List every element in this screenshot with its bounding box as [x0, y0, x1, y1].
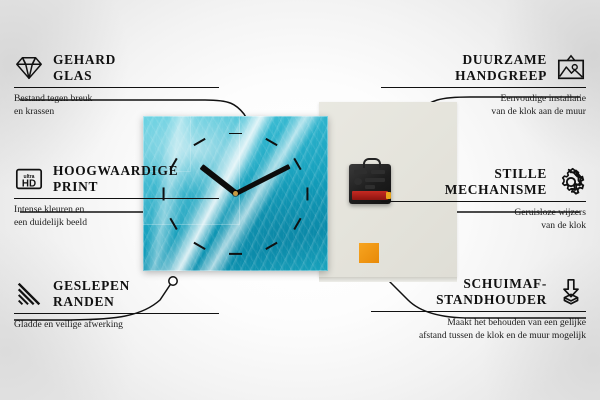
feature-title-line1: HOOGWAARDIGE [53, 163, 178, 179]
feature-title-line2: STANDHOUDER [436, 292, 547, 308]
feature-desc-line2: en krassen [14, 106, 219, 119]
hour-mark [229, 253, 242, 255]
feature-title-line1: GEHARD [53, 52, 116, 68]
hour-mark [229, 133, 242, 135]
feature-title-line2: HANDGREEP [455, 68, 547, 84]
feature-description: Gladde en veilige afwerking [14, 319, 219, 332]
feature-description: Intense kleuren en een duidelijk beeld [14, 204, 219, 229]
ultra-hd-icon: ultra HD [14, 164, 44, 194]
feature-title: GESLEPEN RANDEN [53, 278, 130, 309]
feature-schuimaf-standhouder: SCHUIMAF- STANDHOUDER Maakt het behouden… [371, 276, 586, 342]
feature-desc-line1: Gladde en veilige afwerking [14, 319, 219, 332]
feature-divider [381, 201, 586, 202]
feature-hoogwaardige-print: ultra HD HOOGWAARDIGE PRINT Intense kleu… [14, 163, 219, 229]
feature-header: DUURZAME HANDGREEP [381, 52, 586, 83]
feature-description: Maakt het behouden van een gelijke afsta… [371, 317, 586, 342]
feature-divider [14, 198, 219, 199]
feature-title-line1: SCHUIMAF- [436, 276, 547, 292]
feature-title-line1: STILLE [445, 166, 547, 182]
picture-frame-icon [556, 53, 586, 83]
ultra-hd-icon-big-text: HD [22, 178, 36, 189]
feature-description: Bestand tegen breuk en krassen [14, 93, 219, 118]
feature-header: GESLEPEN RANDEN [14, 278, 219, 309]
feature-title: DUURZAME HANDGREEP [455, 52, 547, 83]
feature-gehard-glas: GEHARD GLAS Bestand tegen breuk en krass… [14, 52, 219, 118]
feature-header: GEHARD GLAS [14, 52, 219, 83]
feature-desc-line1: Bestand tegen breuk [14, 93, 219, 106]
clock-center-hub [233, 191, 238, 196]
feature-duurzame-handgreep: DUURZAME HANDGREEP Eenvoudige installati… [381, 52, 586, 118]
beveled-edges-icon [14, 279, 44, 309]
feature-header: ultra HD HOOGWAARDIGE PRINT [14, 163, 219, 194]
hour-mark [307, 187, 309, 200]
feature-desc-line2: afstand tussen de klok en de muur mogeli… [371, 330, 586, 343]
hour-mark [294, 157, 302, 169]
feature-title-line1: DUURZAME [455, 52, 547, 68]
hour-mark [193, 241, 205, 249]
feature-desc-line1: Geruisloze wijzers [381, 207, 586, 220]
foam-spacer [359, 243, 379, 263]
feature-description: Geruisloze wijzers van de klok [381, 207, 586, 232]
feature-title: STILLE MECHANISME [445, 166, 547, 197]
feature-header: STILLE MECHANISME [381, 166, 586, 197]
product-infographic: GEHARD GLAS Bestand tegen breuk en krass… [0, 0, 600, 400]
feature-title-line2: GLAS [53, 68, 116, 84]
minute-hand [234, 164, 290, 196]
feature-geslepen-randen: GESLEPEN RANDEN Gladde en veilige afwerk… [14, 278, 219, 332]
hanging-lug [363, 158, 381, 168]
feature-title: GEHARD GLAS [53, 52, 116, 83]
download-spacer-icon [556, 277, 586, 307]
feature-divider [371, 311, 586, 312]
feature-desc-line1: Intense kleuren en [14, 204, 219, 217]
hour-mark [294, 217, 302, 229]
feature-title: HOOGWAARDIGE PRINT [53, 163, 178, 194]
feature-title: SCHUIMAF- STANDHOUDER [436, 276, 547, 307]
movement-slot-1 [354, 170, 367, 174]
feature-desc-line2: een duidelijk beeld [14, 217, 219, 230]
movement-slot-5 [365, 185, 375, 189]
feature-description: Eenvoudige installatie van de klok aan d… [381, 93, 586, 118]
feature-title-line1: GESLEPEN [53, 278, 130, 294]
hour-mark [265, 137, 277, 145]
feature-desc-line2: van de klok [381, 220, 586, 233]
feature-divider [381, 87, 586, 88]
feature-divider [14, 87, 219, 88]
hour-mark [265, 241, 277, 249]
gear-icon [556, 167, 586, 197]
feature-title-line2: MECHANISME [445, 182, 547, 198]
feature-title-line2: PRINT [53, 179, 178, 195]
feature-title-line2: RANDEN [53, 294, 130, 310]
hour-mark [193, 137, 205, 145]
movement-slot-3 [354, 178, 362, 185]
feature-desc-line2: van de klok aan de muur [381, 106, 586, 119]
feature-desc-line1: Maakt het behouden van een gelijke [371, 317, 586, 330]
feature-stille-mechanisme: STILLE MECHANISME Geruisloze wijzers van… [381, 166, 586, 232]
feature-desc-line1: Eenvoudige installatie [381, 93, 586, 106]
diamond-icon [14, 53, 44, 83]
feature-divider [14, 313, 219, 314]
feature-header: SCHUIMAF- STANDHOUDER [371, 276, 586, 307]
